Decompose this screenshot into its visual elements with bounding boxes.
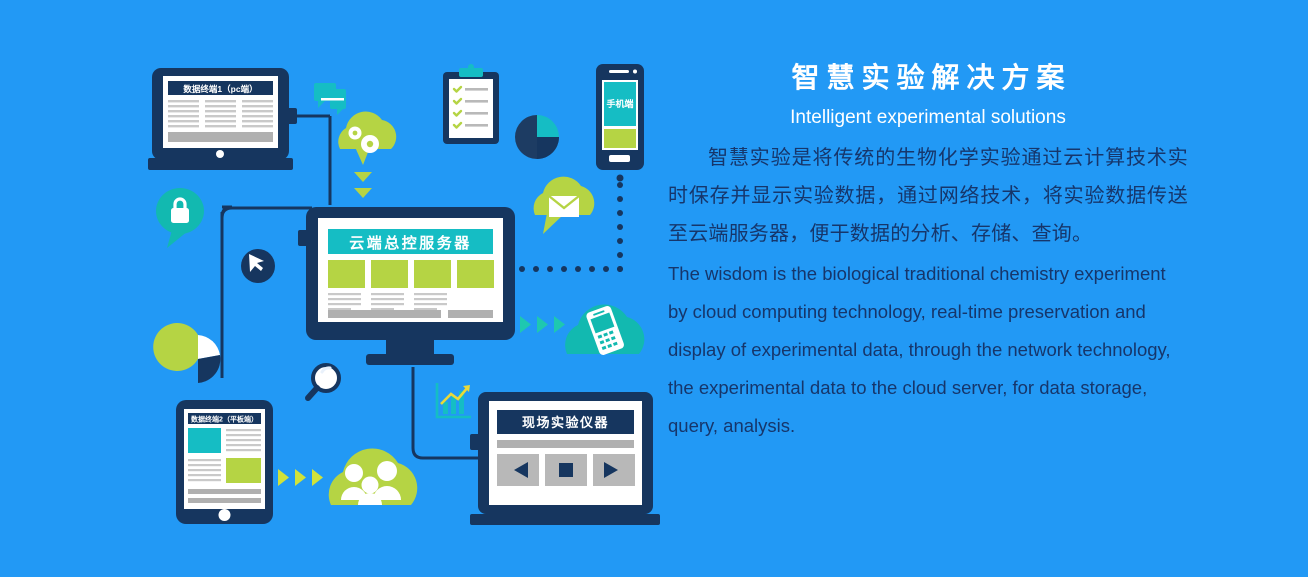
gears-cloud-icon bbox=[338, 112, 396, 165]
description-chinese: 智慧实验是将传统的生物化学实验通过云计算技术实时保存并显示实验数据，通过网络技术… bbox=[668, 139, 1188, 253]
page-title: 智慧实验解决方案 bbox=[668, 58, 1188, 98]
checklist-clipboard-icon bbox=[443, 64, 499, 144]
server-screen-title: 云端总控服务器 bbox=[349, 234, 472, 252]
description-english: The wisdom is the biological traditional… bbox=[668, 255, 1188, 445]
mobile-phone-device bbox=[596, 64, 644, 182]
phone-screen-title: 手机端 bbox=[606, 98, 633, 109]
server-monitor-device bbox=[298, 207, 515, 365]
magnifier-icon bbox=[308, 365, 339, 398]
mail-cloud-bubble-icon bbox=[534, 177, 595, 234]
infographic-banner: 数据终端1（pc端） bbox=[0, 0, 1308, 577]
cursor-circle-icon bbox=[241, 249, 275, 283]
network-diagram-illustration: 数据终端1（pc端） bbox=[0, 0, 670, 577]
phone-cloud-icon bbox=[565, 304, 644, 356]
people-cloud-icon bbox=[329, 448, 418, 505]
growth-chart-icon bbox=[437, 383, 471, 417]
pie-chart-teal-icon bbox=[515, 115, 559, 159]
instrument-screen-title: 现场实验仪器 bbox=[522, 415, 609, 430]
laptop-screen-title: 数据终端1（pc端） bbox=[183, 84, 257, 94]
instrument-device bbox=[470, 392, 660, 525]
page-subtitle: Intelligent experimental solutions bbox=[668, 103, 1188, 133]
tablet-screen-title: 数据终端2（平板端） bbox=[191, 415, 258, 424]
lock-bubble-icon bbox=[156, 188, 204, 248]
arrows-teal-icon bbox=[520, 316, 565, 333]
chat-bubbles-icon bbox=[314, 83, 346, 115]
text-content-panel: 智慧实验解决方案 Intelligent experimental soluti… bbox=[668, 58, 1188, 445]
arrows-green-icon bbox=[278, 469, 323, 486]
arrows-down-icon bbox=[354, 172, 372, 198]
pie-chart-green-icon bbox=[153, 323, 220, 383]
